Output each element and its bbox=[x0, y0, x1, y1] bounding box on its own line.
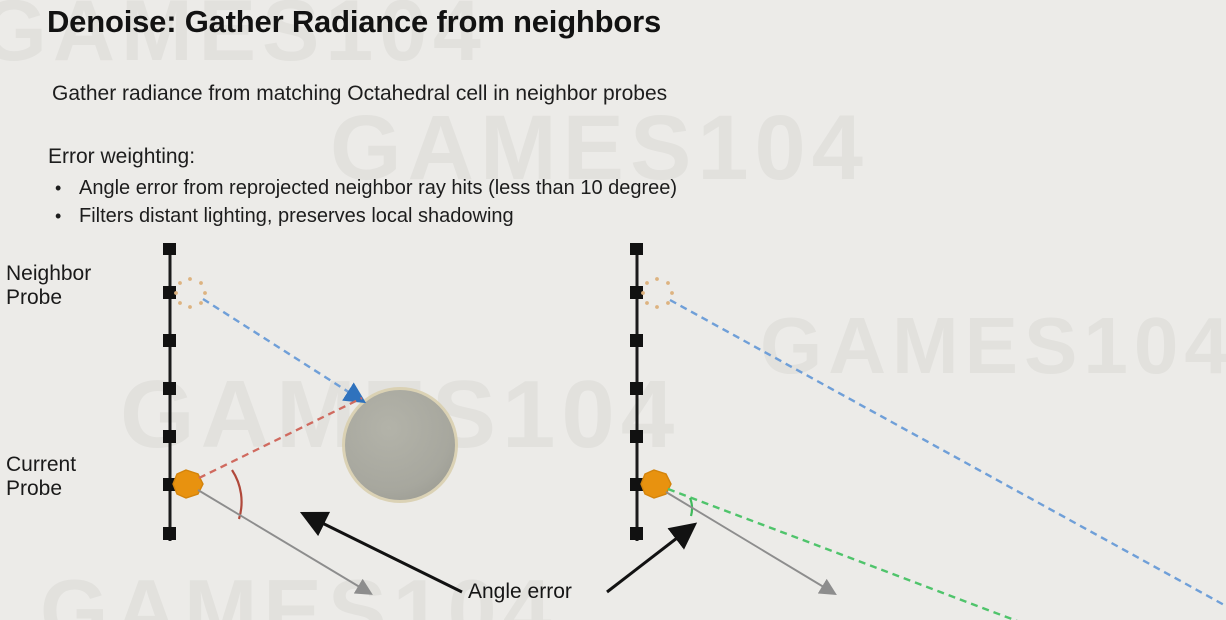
angle-error-callout-arrow-left bbox=[308, 516, 462, 592]
current-probe-marker-right bbox=[641, 470, 671, 498]
current-ray-left bbox=[199, 398, 362, 478]
probe-ray-diagram bbox=[0, 0, 1226, 620]
occluder-sphere-body bbox=[345, 390, 455, 500]
neighbor-probe-marker-left bbox=[174, 277, 207, 309]
left-panel-group bbox=[163, 243, 458, 592]
neighbor-probe-marker-right bbox=[641, 277, 674, 309]
neighbor-ray-left bbox=[203, 299, 358, 398]
angle-error-callout-arrow-right bbox=[607, 528, 690, 592]
surface-ray-left bbox=[198, 490, 368, 592]
slide-canvas: GAMES104 GAMES104 GAMES104 GAMES104 GAME… bbox=[0, 0, 1226, 620]
right-panel-group bbox=[630, 243, 1226, 620]
current-probe-marker-left bbox=[173, 470, 203, 498]
neighbor-ray-right bbox=[670, 300, 1226, 606]
current-ray-right bbox=[668, 489, 1226, 620]
